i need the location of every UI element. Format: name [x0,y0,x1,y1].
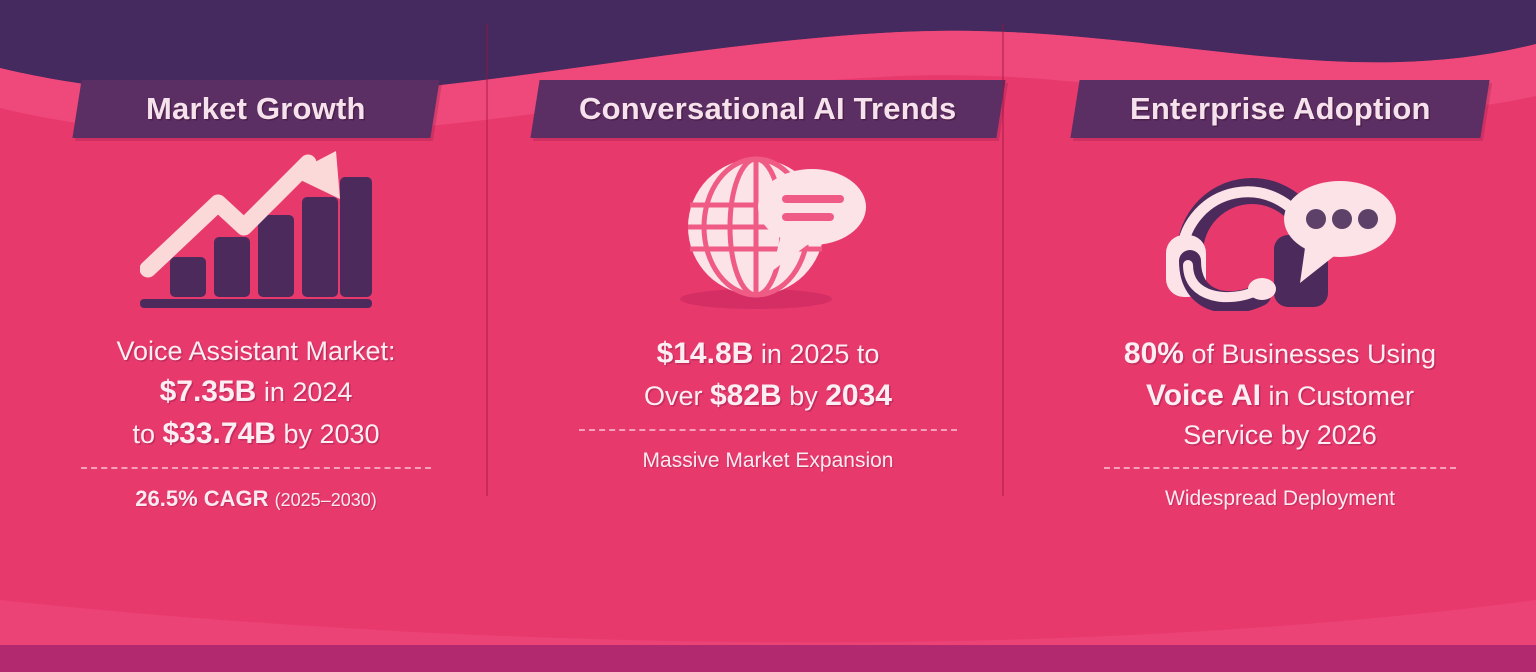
stat-divider-dashed [1104,467,1456,469]
infographic-columns: Market Growth Voice Assistant Market: $7… [0,58,1536,578]
headset-speech-bubble-icon [1156,146,1404,314]
stat-line-3: Service by 2026 [1104,418,1456,453]
stat-line-1: $14.8B in 2025 to [579,334,957,373]
stat-prefix-over: Over [644,381,710,411]
caption-cagr-value: 26.5% CAGR [135,486,268,511]
stats-conversational-ai: $14.8B in 2025 to Over $82B by 2034 Mass… [561,334,975,474]
stat-divider-dashed [579,429,957,431]
stat-value-2030: $33.74B [163,417,276,450]
column-title-text: Enterprise Adoption [1130,91,1431,127]
stat-suffix-2025: in 2025 to [753,339,879,369]
stats-market-growth: Voice Assistant Market: $7.35B in 2024 t… [63,334,449,514]
column-title-text: Market Growth [146,91,366,127]
column-divider-2 [1002,24,1004,496]
stat-line-2: Voice AI in Customer [1104,376,1456,415]
column-enterprise-adoption: Enterprise Adoption [1024,58,1536,578]
stat-value-80pct: 80% [1124,337,1184,370]
stat-value-2034: 2034 [825,379,892,412]
stat-value-2025: $14.8B [657,337,754,370]
bottom-light-pink-wave [0,600,1536,646]
globe-speech-bubble-icon [664,146,872,314]
stat-suffix-customer: in Customer [1261,381,1414,411]
bar-chart-growth-arrow-icon [140,146,372,314]
stat-prefix-2030: to [132,419,162,449]
column-conversational-ai-trends: Conversational AI Trends [512,58,1024,578]
stat-line-1: Voice Assistant Market: [81,334,431,369]
stat-line-2: Over $82B by 2034 [579,376,957,415]
stat-suffix-by: by [782,381,826,411]
stat-line-3: to $33.74B by 2030 [81,414,431,453]
stat-suffix-2030: by 2030 [276,419,380,449]
column-market-growth: Market Growth Voice Assistant Market: $7… [0,58,512,578]
caption-market-expansion: Massive Market Expansion [579,447,957,474]
stat-line-2: $7.35B in 2024 [81,372,431,411]
caption-cagr: 26.5% CAGR (2025–2030) [81,485,431,514]
column-title-text: Conversational AI Trends [579,91,956,127]
stat-divider-dashed [81,467,431,469]
column-title-banner-conversational-ai: Conversational AI Trends [530,80,1005,138]
stat-value-82b: $82B [710,379,782,412]
column-title-banner-enterprise-adoption: Enterprise Adoption [1070,80,1489,138]
stat-suffix-2024: in 2024 [256,377,352,407]
stat-value-2024: $7.35B [160,375,257,408]
stat-line-1: 80% of Businesses Using [1104,334,1456,373]
caption-widespread-deployment: Widespread Deployment [1104,485,1456,512]
column-title-banner-market-growth: Market Growth [72,80,439,138]
stat-value-voice-ai: Voice AI [1146,379,1261,412]
bottom-magenta-band [0,645,1536,672]
caption-cagr-range: (2025–2030) [275,490,377,510]
stats-enterprise-adoption: 80% of Businesses Using Voice AI in Cust… [1086,334,1474,512]
column-divider-1 [486,24,488,496]
stat-suffix-businesses: of Businesses Using [1184,339,1436,369]
